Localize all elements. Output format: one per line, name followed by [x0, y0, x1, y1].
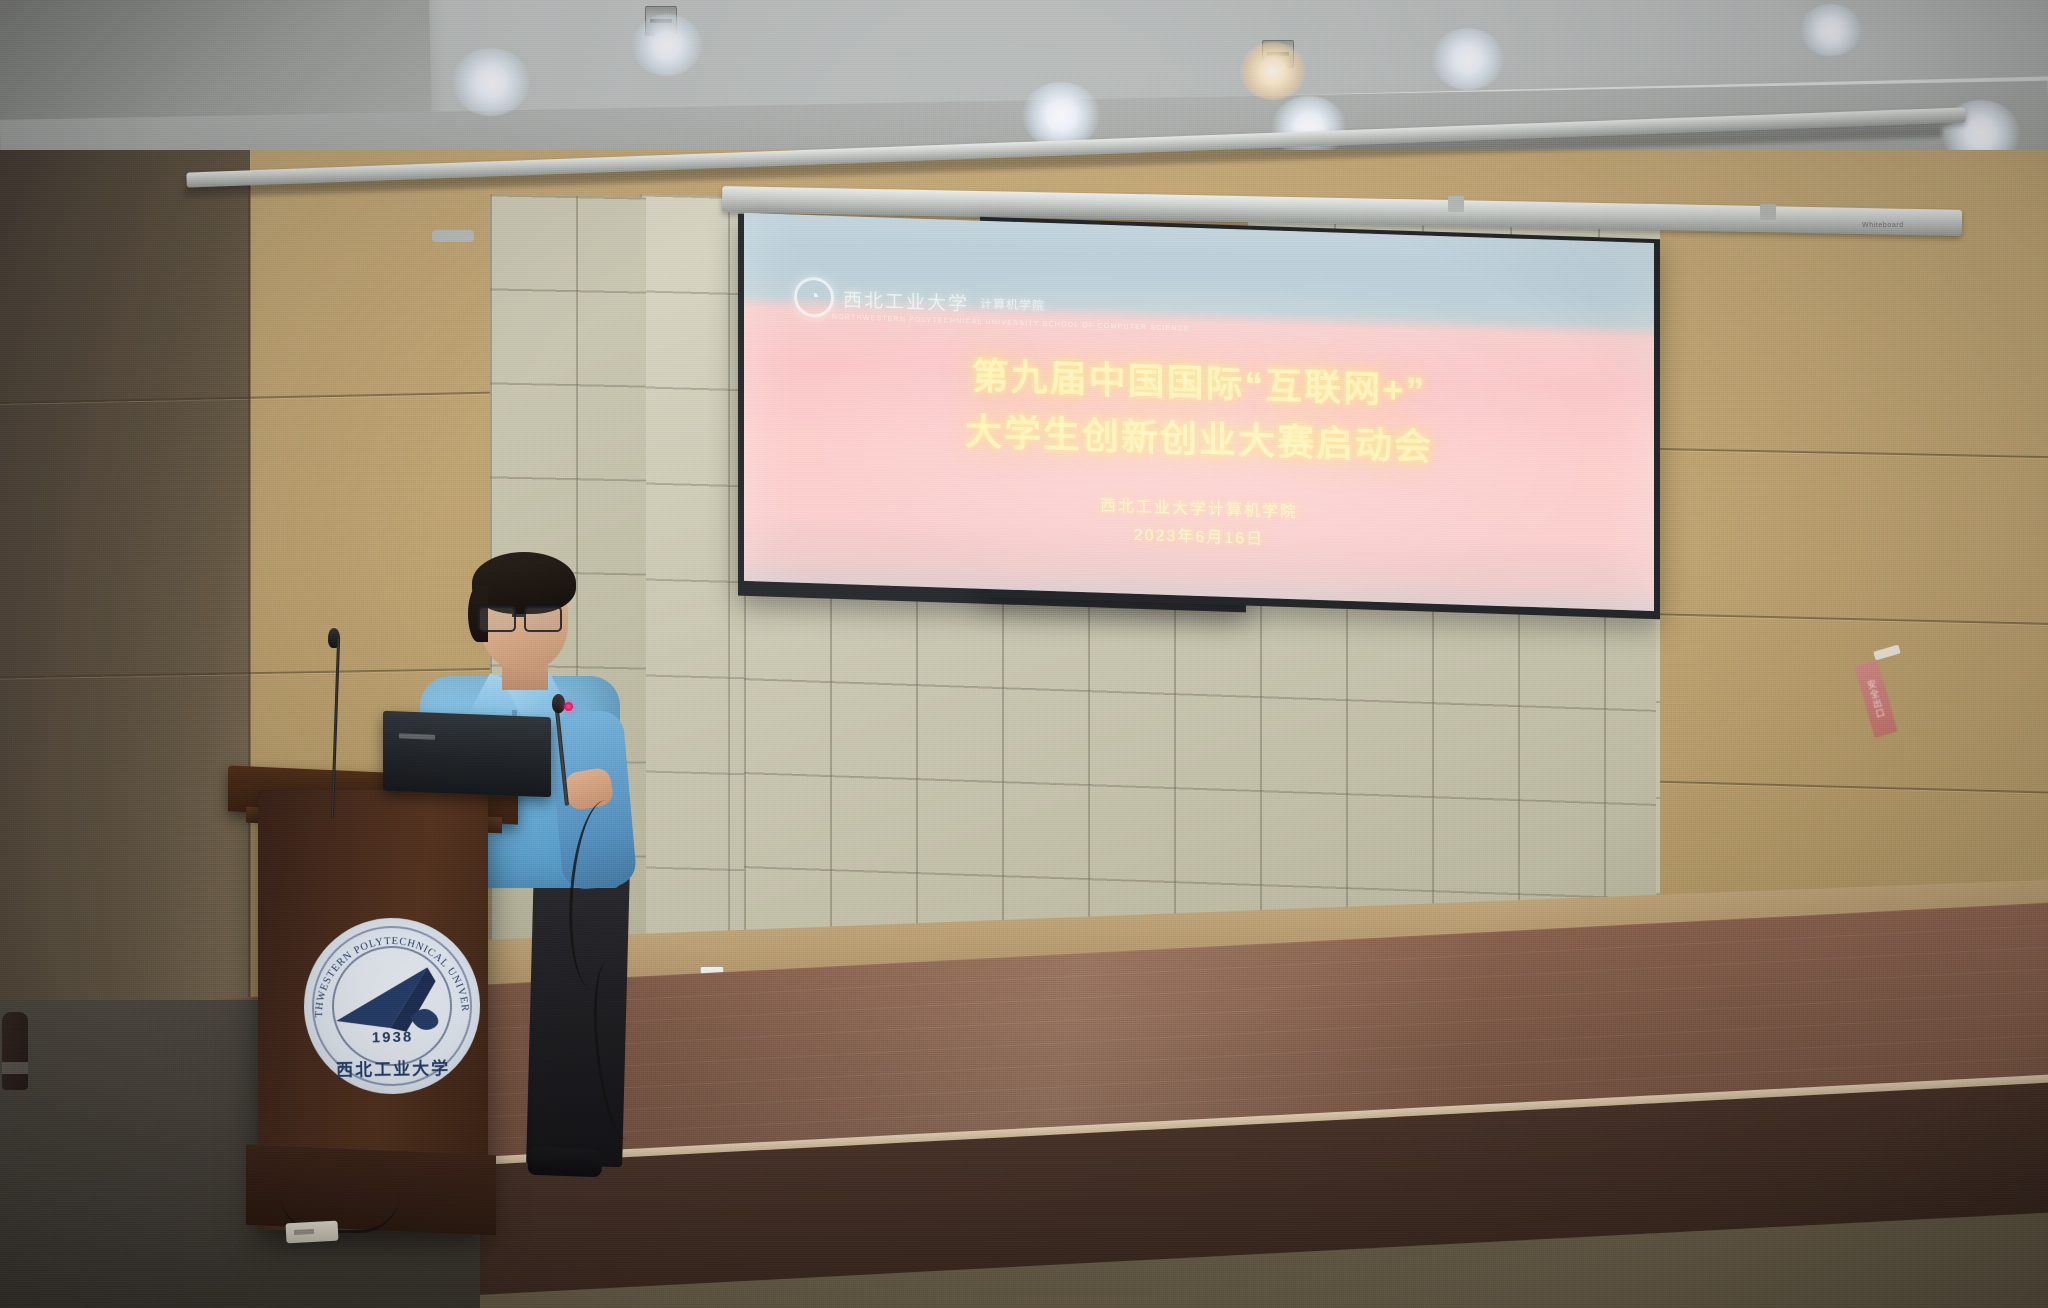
- laptop-brand-logo: [399, 733, 435, 739]
- glasses-lens-left: [478, 606, 516, 632]
- exit-sign-label: 安全出口: [1864, 678, 1888, 720]
- power-strip-socket: [294, 1229, 314, 1235]
- presenter-shoe: [528, 1147, 603, 1178]
- ceiling-spotlight: [452, 48, 530, 116]
- emblem-year: 1938: [304, 1027, 480, 1047]
- slide-logo-university: 西北工业大学: [843, 285, 969, 316]
- fire-extinguisher-band: [2, 1062, 28, 1074]
- slide-title: 第九届中国国际“互联网+” 大学生创新创业大赛启动会: [744, 341, 1654, 484]
- ceiling-spotlight: [1240, 42, 1306, 100]
- laptop[interactable]: [383, 711, 551, 797]
- lecture-hall-photo: Whiteboard ◔ 西北工业大学 计算机学院 NORTHWESTERN P…: [0, 0, 2048, 1308]
- ceiling-spotlight: [1022, 82, 1100, 148]
- ceiling-spotlight: [1800, 4, 1862, 56]
- fire-extinguisher-icon: [2, 1012, 28, 1090]
- university-swirl-icon: ◔: [794, 277, 834, 318]
- slide-subtitle: 西北工业大学计算机学院 2023年6月16日: [744, 481, 1654, 567]
- ceiling-spotlight: [632, 14, 702, 76]
- glasses-bridge: [512, 614, 524, 617]
- podium-microphone-head: [552, 694, 565, 713]
- projection-screen: ◔ 西北工业大学 计算机学院 NORTHWESTERN POLYTECHNICA…: [744, 213, 1654, 611]
- wall-seam: [248, 180, 251, 1010]
- emblem-wing-icon: [331, 961, 450, 1037]
- glasses-lens-right: [524, 606, 562, 632]
- rail-bracket: [432, 230, 474, 242]
- wall-left-shadowed-panel: [0, 150, 250, 1030]
- presenter-glasses-icon: [478, 606, 570, 630]
- power-strip[interactable]: [286, 1221, 339, 1244]
- microphone-led-indicator: [564, 702, 573, 711]
- podium-university-emblem: NORTHWESTERN POLYTECHNICAL UNIVERSITY 19…: [302, 916, 481, 1095]
- projector-brand-label: Whiteboard: [1862, 222, 1904, 229]
- rail-bracket: [1448, 196, 1464, 212]
- slide-logo-school: 计算机学院: [980, 294, 1045, 313]
- emblem-chinese-name: 西北工业大学: [305, 1053, 481, 1081]
- ceiling-spotlight: [1432, 28, 1504, 90]
- rail-bracket: [1760, 204, 1776, 220]
